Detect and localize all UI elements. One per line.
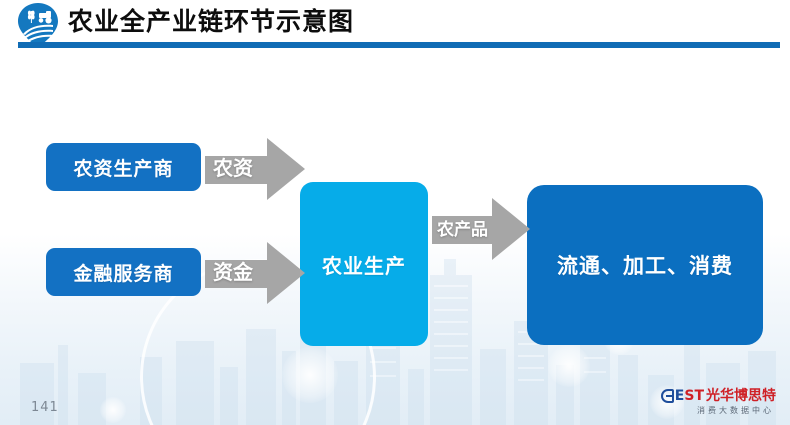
node-label: 农业生产 <box>322 250 406 279</box>
node-agri-input-supplier[interactable]: 农资生产商 <box>46 143 201 191</box>
best-wordmark-icon: EST <box>661 389 704 403</box>
brand-name: 光华博思特 <box>706 388 776 404</box>
slide-header: 农业全产业链环节示意图 <box>0 0 790 50</box>
brand-logo: EST 光华博思特 消费大数据中心 <box>654 387 776 417</box>
best-b-glyph <box>661 389 674 403</box>
arrow-label-capital: 资金 <box>213 256 253 285</box>
node-financial-service-provider[interactable]: 金融服务商 <box>46 248 201 296</box>
node-distribution-processing-consumption[interactable]: 流通、加工、消费 <box>527 185 763 345</box>
arrow-label-farm-produce: 农产品 <box>437 215 488 240</box>
value-chain-diagram: 农资生产商 金融服务商 农业生产 流通、加工、消费 农资 资金 <box>0 50 790 380</box>
header-divider-rule <box>18 42 780 48</box>
page-title: 农业全产业链环节示意图 <box>68 5 354 39</box>
arrow-label-agri-input: 农资 <box>213 152 253 181</box>
brand-logo-row: EST 光华博思特 <box>654 387 776 405</box>
best-st-letters: ST <box>684 389 704 403</box>
brand-subtitle: 消费大数据中心 <box>654 405 776 416</box>
slide-canvas: 农业全产业链环节示意图 农资生产商 金融服务商 农业生产 流通、加工、消费 农资 <box>0 0 790 425</box>
node-label: 流通、加工、消费 <box>557 250 733 280</box>
best-e-letter: E <box>675 389 685 403</box>
node-label: 金融服务商 <box>73 259 173 286</box>
page-number: 141 <box>31 400 59 415</box>
node-agricultural-production[interactable]: 农业生产 <box>300 182 428 346</box>
node-label: 农资生产商 <box>73 154 173 181</box>
bokeh-light <box>100 397 126 423</box>
